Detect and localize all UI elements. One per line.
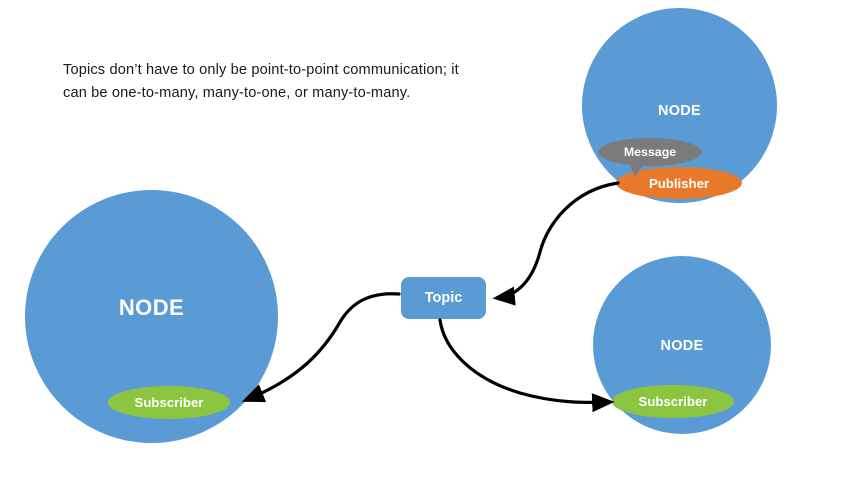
node-bottom-right-label: NODE bbox=[593, 338, 771, 354]
message-bubble[interactable]: Message bbox=[598, 138, 702, 166]
caption-text: Topics don’t have to only be point-to-po… bbox=[63, 59, 483, 104]
publisher-label: Publisher bbox=[649, 176, 709, 191]
arrow-topic-to-subscriber-bottom-right bbox=[440, 320, 610, 402]
node-top-right-label: NODE bbox=[582, 103, 777, 119]
message-label: Message bbox=[624, 145, 676, 159]
subscriber-bottom-right-label: Subscriber bbox=[639, 394, 708, 409]
subscriber-bottom-right[interactable]: Subscriber bbox=[612, 385, 734, 418]
subscriber-left[interactable]: Subscriber bbox=[108, 386, 230, 419]
subscriber-left-label: Subscriber bbox=[135, 395, 204, 410]
node-left-label: NODE bbox=[25, 295, 278, 321]
topic-box[interactable]: Topic bbox=[401, 277, 486, 319]
topic-label: Topic bbox=[425, 290, 463, 306]
arrow-publisher-to-topic bbox=[497, 183, 618, 298]
diagram-canvas: Topics don’t have to only be point-to-po… bbox=[0, 0, 854, 480]
